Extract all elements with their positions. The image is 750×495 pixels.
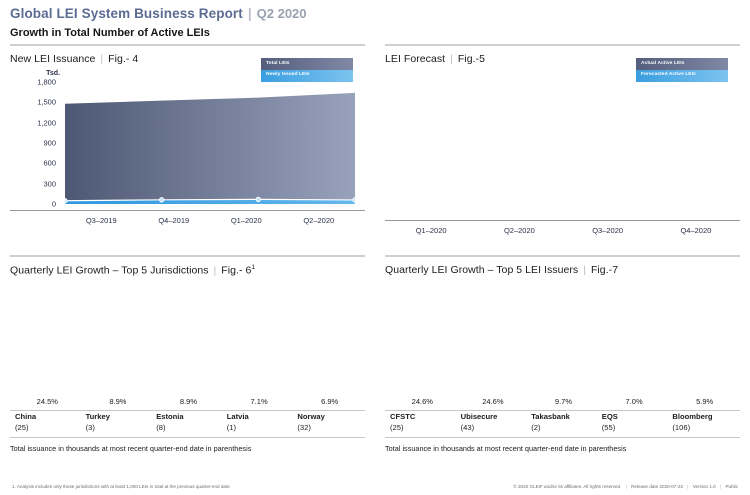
bar-value-label: 6.9% <box>306 397 354 406</box>
panel-figure-label: Fig.-7 <box>591 264 618 276</box>
panel-new-lei-issuance: New LEI Issuance | Fig.- 4 Total LEIs Ne… <box>0 44 375 255</box>
y-tick: 1,500 <box>37 98 56 107</box>
bar-value-label: 7.1% <box>235 397 283 406</box>
bar-value-label: 24.5% <box>23 397 71 406</box>
x-tick-label: Q1–2020 <box>387 226 475 235</box>
title-separator: | <box>248 6 252 21</box>
x-tick-label: Q1–2020 <box>210 216 283 225</box>
x-tick-label: EQS(55) <box>599 412 670 432</box>
x-tick-label: Q3–2020 <box>564 226 652 235</box>
bar-value-label: 24.6% <box>398 397 446 406</box>
panel-note-issuers: Total issuance in thousands at most rece… <box>385 444 626 453</box>
category-name: Bloomberg <box>672 412 740 421</box>
area-chart-svg <box>65 82 355 204</box>
x-axis-labels-issuance: Q3–2019 Q4–2019 Q1–2020 Q2–2020 <box>65 216 355 225</box>
x-tick-label: Q4–2019 <box>138 216 211 225</box>
footer-separator: | <box>720 484 721 489</box>
panel-title-issuers: Quarterly LEI Growth – Top 5 LEI Issuers… <box>385 264 740 276</box>
x-tick-label: Norway(32) <box>294 412 365 432</box>
panel-title-text: New LEI Issuance <box>10 53 95 65</box>
x-axis-line-issuance <box>10 210 365 211</box>
footer-release-date: Release date 2020-07-23 <box>631 484 683 489</box>
footer-meta: © 2020 GLEIF and/or its affiliates. All … <box>513 484 738 489</box>
x-tick-label: Bloomberg(106) <box>669 412 740 432</box>
page-title: Global LEI System Business Report <box>10 6 243 21</box>
category-count: (1) <box>227 423 295 432</box>
x-tick-label: Q2–2020 <box>283 216 356 225</box>
category-name: Estonia <box>156 412 224 421</box>
panel-divider <box>10 44 365 46</box>
bar-plot-issuers: 24.6%24.6%9.7%7.0%5.9% <box>387 283 740 408</box>
panel-title-separator: | <box>214 265 217 277</box>
report-quarter: Q2 2020 <box>257 6 307 21</box>
category-name: Takasbank <box>531 412 599 421</box>
panel-title-separator: | <box>450 53 453 65</box>
chart-area-issuance: Tsd. 1,800 1,500 1,200 900 600 300 0 <box>10 70 365 246</box>
x-tick-label: China(25) <box>12 412 83 432</box>
report-subtitle: Growth in Total Number of Active LEIs <box>10 27 740 39</box>
x-axis-line-forecast <box>385 220 740 221</box>
panel-lei-forecast: LEI Forecast | Fig.-5 Actual Active LEIs… <box>375 44 750 255</box>
x-tick-label: Latvia(1) <box>224 412 295 432</box>
bar-value-label: 8.9% <box>94 397 142 406</box>
x-axis-labels-forecast: Q1–2020 Q2–2020 Q3–2020 Q4–2020 <box>387 226 740 235</box>
category-name: CFSTC <box>390 412 458 421</box>
category-name: Norway <box>297 412 365 421</box>
area-series-total-leis <box>65 93 355 204</box>
bar-value-label: 24.6% <box>469 397 517 406</box>
panel-figure-label: Fig.-5 <box>458 53 485 65</box>
report-page: Global LEI System Business Report | Q2 2… <box>0 0 750 495</box>
bar-plot-jurisdictions: 24.5%8.9%8.9%7.1%6.9% <box>12 283 365 408</box>
panel-top-lei-issuers: Quarterly LEI Growth – Top 5 LEI Issuers… <box>375 255 750 467</box>
panel-title-jurisdictions: Quarterly LEI Growth – Top 5 Jurisdictio… <box>10 264 365 277</box>
category-count: (106) <box>672 423 740 432</box>
panel-divider <box>385 255 740 257</box>
panel-title-text: Quarterly LEI Growth – Top 5 LEI Issuers <box>385 264 578 276</box>
x-tick-label: Estonia(8) <box>153 412 224 432</box>
footer-footnote: 1. Analysis includes only those jurisdic… <box>12 484 230 489</box>
footer-copyright: © 2020 GLEIF and/or its affiliates. All … <box>513 484 621 489</box>
legend-item-total-leis: Total LEIs <box>261 58 353 70</box>
data-point <box>65 199 67 203</box>
y-tick: 900 <box>43 139 56 148</box>
bar-groups-issuers: 24.6%24.6%9.7%7.0%5.9% <box>387 283 740 408</box>
panel-note-jurisdictions: Total issuance in thousands at most rece… <box>10 444 251 453</box>
y-tick: 1,800 <box>37 78 56 87</box>
footnote-marker: 1 <box>251 264 255 271</box>
report-footer: 1. Analysis includes only those jurisdic… <box>0 484 750 489</box>
bar-value-label: 7.0% <box>610 397 658 406</box>
category-name: Ubisecure <box>461 412 529 421</box>
y-tick: 300 <box>43 179 56 188</box>
x-tick-label: Q3–2019 <box>65 216 138 225</box>
category-count: (55) <box>602 423 670 432</box>
bar-value-label: 5.9% <box>681 397 729 406</box>
x-tick-label: CFSTC(25) <box>387 412 458 432</box>
legend-item-actual-active-leis: Actual Active LEIs <box>636 58 728 70</box>
panel-title-separator: | <box>583 264 586 276</box>
y-tick: 0 <box>52 200 56 209</box>
x-axis-labels-jurisdictions: China(25)Turkey(3)Estonia(8)Latvia(1)Nor… <box>12 412 365 432</box>
x-tick-label: Q2–2020 <box>475 226 563 235</box>
y-axis-ticks-issuance: 1,800 1,500 1,200 900 600 300 0 <box>10 82 60 204</box>
panel-footer-divider <box>10 437 365 438</box>
x-tick-label: Turkey(3) <box>83 412 154 432</box>
area-plot-issuance <box>65 82 355 204</box>
category-count: (32) <box>297 423 365 432</box>
footer-version: Version 1.0 <box>693 484 716 489</box>
panel-top-jurisdictions: Quarterly LEI Growth – Top 5 Jurisdictio… <box>0 255 375 467</box>
data-point <box>353 198 355 202</box>
panel-figure-label: Fig.- 4 <box>108 53 138 65</box>
x-axis-line-jurisdictions <box>10 410 365 411</box>
category-name: Turkey <box>86 412 154 421</box>
x-tick-label: Takasbank(2) <box>528 412 599 432</box>
category-name: China <box>15 412 83 421</box>
category-count: (25) <box>15 423 83 432</box>
category-count: (25) <box>390 423 458 432</box>
category-name: Latvia <box>227 412 295 421</box>
y-axis-unit: Tsd. <box>16 70 60 77</box>
charts-grid: New LEI Issuance | Fig.- 4 Total LEIs Ne… <box>0 44 750 474</box>
bar-value-label: 9.7% <box>539 397 587 406</box>
panel-title-text: Quarterly LEI Growth – Top 5 Jurisdictio… <box>10 265 209 277</box>
y-tick: 600 <box>43 159 56 168</box>
category-count: (2) <box>531 423 599 432</box>
bar-groups-jurisdictions: 24.5%8.9%8.9%7.1%6.9% <box>12 283 365 408</box>
category-count: (43) <box>461 423 529 432</box>
data-point <box>256 197 260 201</box>
category-count: (3) <box>86 423 154 432</box>
category-count: (8) <box>156 423 224 432</box>
x-tick-label: Ubisecure(43) <box>458 412 529 432</box>
footer-separator: | <box>626 484 627 489</box>
panel-footer-divider <box>385 437 740 438</box>
x-axis-labels-issuers: CFSTC(25)Ubisecure(43)Takasbank(2)EQS(55… <box>387 412 740 432</box>
bar-value-label: 8.9% <box>164 397 212 406</box>
panel-title-text: LEI Forecast <box>385 53 445 65</box>
panel-figure-label: Fig.- 6 <box>221 265 251 277</box>
report-header: Global LEI System Business Report | Q2 2… <box>0 0 750 39</box>
report-title-line: Global LEI System Business Report | Q2 2… <box>10 6 740 21</box>
panel-title-separator: | <box>100 53 103 65</box>
panel-divider <box>385 44 740 46</box>
x-tick-label: Q4–2020 <box>652 226 740 235</box>
x-axis-line-issuers <box>385 410 740 411</box>
bar-groups-forecast: 1,558,7471,559,0001,607,6121,601,0001,64… <box>387 78 740 218</box>
y-tick: 1,200 <box>37 118 56 127</box>
footer-classification: Public <box>725 484 738 489</box>
footer-separator: | <box>687 484 688 489</box>
bar-plot-forecast: 1,558,7471,559,0001,607,6121,601,0001,64… <box>387 78 740 218</box>
data-point <box>160 198 164 202</box>
category-name: EQS <box>602 412 670 421</box>
panel-divider <box>10 255 365 257</box>
